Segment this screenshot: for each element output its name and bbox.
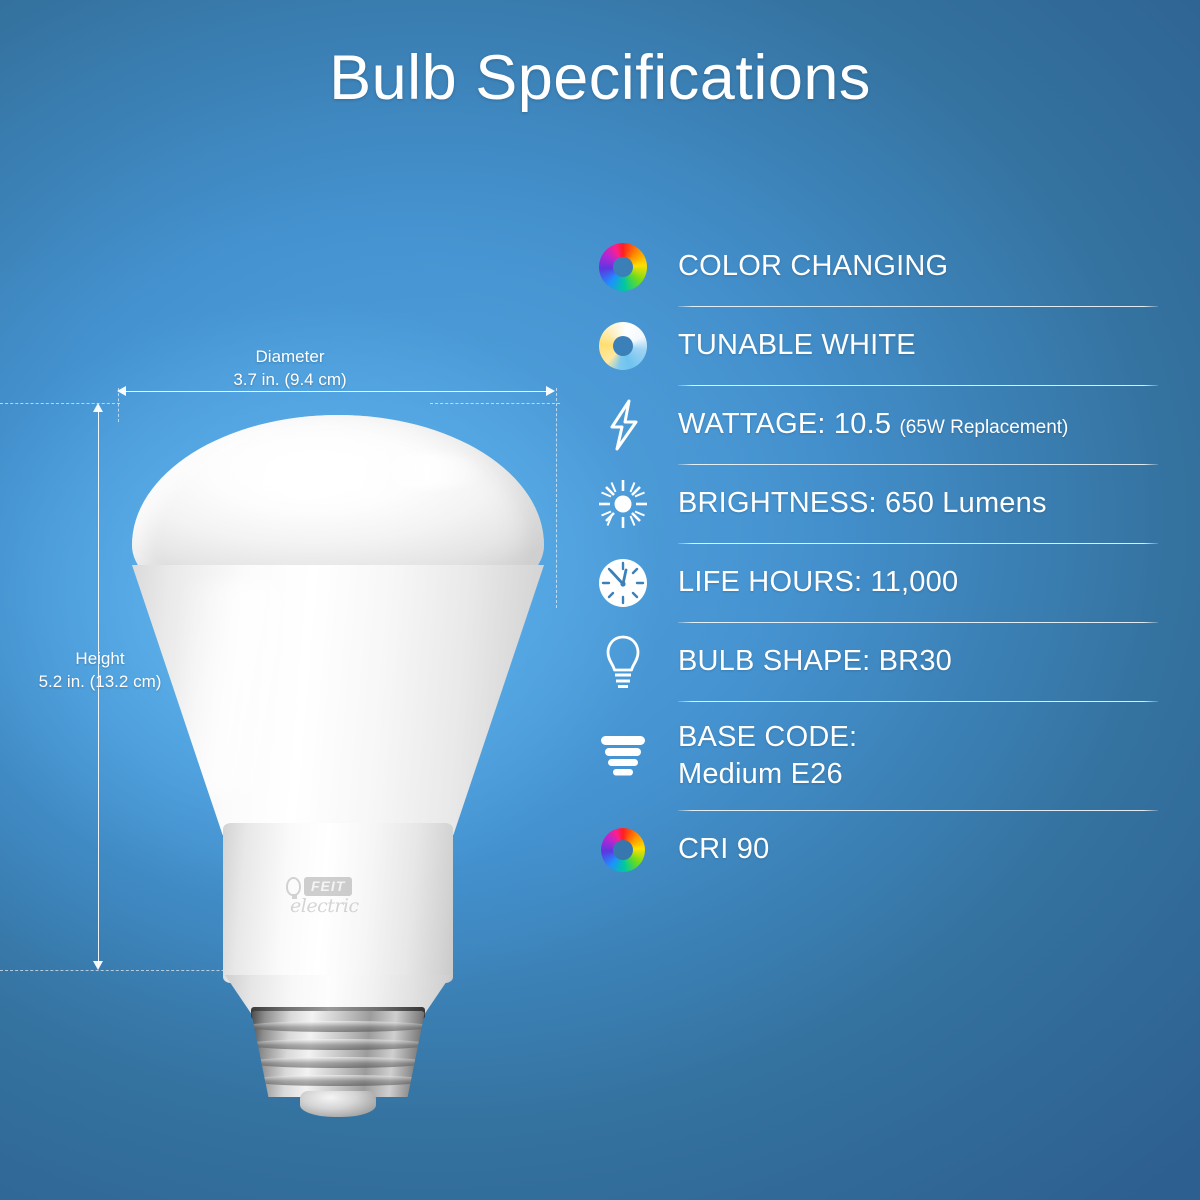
diameter-label: Diameter 3.7 in. (9.4 cm) — [190, 346, 390, 392]
diameter-label-title: Diameter — [256, 347, 325, 366]
specification-list: COLOR CHANGING TUNABLE WHITE WATTAGE: 10… — [594, 228, 1164, 889]
height-arrow-head-top — [93, 403, 103, 412]
bulb-base-tip — [300, 1091, 376, 1117]
diameter-arrow-head-right — [546, 386, 555, 396]
spec-label: BRIGHTNESS: 650 Lumens — [678, 485, 1047, 522]
spec-label: TUNABLE WHITE — [678, 327, 916, 364]
br30-bulb-image: FEIT electric — [118, 415, 558, 1075]
bulb-diagram: Diameter 3.7 in. (9.4 cm) Height 5.2 in.… — [0, 330, 580, 1070]
spec-label-main: BASE CODE: — [678, 719, 857, 756]
spec-label-sub: (65W Replacement) — [899, 417, 1068, 438]
feit-wordmark: FEIT — [304, 877, 352, 896]
page-title: Bulb Specifications — [0, 44, 1200, 113]
spec-row-bulb-shape: BULB SHAPE: BR30 — [594, 623, 1164, 701]
spec-row-color-changing: COLOR CHANGING — [594, 228, 1164, 306]
base-thread — [251, 1057, 425, 1068]
bulb-icon — [594, 633, 652, 691]
spec-row-wattage: WATTAGE: 10.5 (65W Replacement) — [594, 386, 1164, 464]
lightning-bolt-icon — [594, 396, 652, 454]
tunable-white-icon — [594, 317, 652, 375]
spec-row-brightness: BRIGHTNESS: 650 Lumens — [594, 465, 1164, 543]
feit-electric-logo: FEIT electric — [286, 877, 394, 923]
bulb-screw-base — [251, 1011, 425, 1097]
spec-row-life-hours: LIFE HOURS: 11,000 — [594, 544, 1164, 622]
spec-label: CRI 90 — [678, 831, 769, 868]
cri-color-wheel-icon — [594, 821, 652, 879]
spec-label-sub: Medium E26 — [678, 756, 857, 793]
diameter-arrow-head-left — [117, 386, 126, 396]
sun-icon — [594, 475, 652, 533]
feit-script-text: electric — [290, 897, 394, 916]
spec-label: COLOR CHANGING — [678, 248, 948, 285]
screw-base-icon — [594, 727, 652, 785]
bulb-highlight — [368, 453, 488, 489]
base-thread — [251, 1075, 425, 1086]
diameter-label-value: 3.7 in. (9.4 cm) — [233, 370, 346, 389]
spec-label: BULB SHAPE: BR30 — [678, 643, 952, 680]
guide-diameter-top-right — [430, 403, 560, 404]
spec-label-main: WATTAGE: 10.5 — [678, 408, 891, 440]
bulb-cone — [132, 565, 544, 835]
spec-row-tunable-white: TUNABLE WHITE — [594, 307, 1164, 385]
spec-label: BASE CODE: Medium E26 — [678, 719, 857, 793]
spec-row-base-code: BASE CODE: Medium E26 — [594, 702, 1164, 810]
bulb-specifications-page: Bulb Specifications Diameter 3.7 in. (9.… — [0, 0, 1200, 1200]
spec-label: WATTAGE: 10.5 (65W Replacement) — [678, 406, 1068, 443]
height-arrow-head-bottom — [93, 961, 103, 970]
feit-bulb-mark-icon — [286, 877, 301, 896]
base-thread — [251, 1039, 425, 1050]
spec-row-cri: CRI 90 — [594, 811, 1164, 889]
color-wheel-icon — [594, 238, 652, 296]
spec-label: LIFE HOURS: 11,000 — [678, 564, 958, 601]
clock-icon — [594, 554, 652, 612]
base-thread — [251, 1021, 425, 1032]
